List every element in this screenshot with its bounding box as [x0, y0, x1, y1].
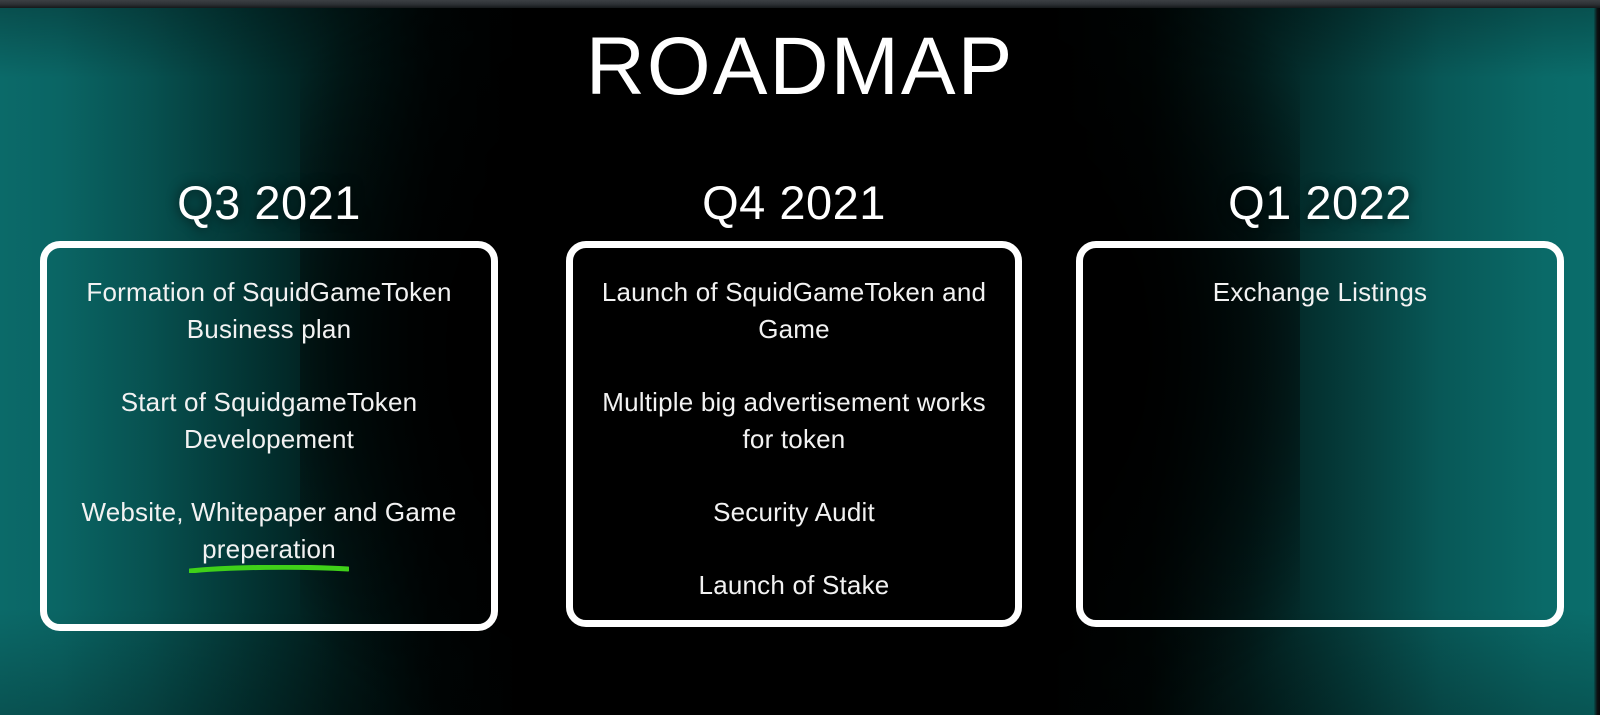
- quarter-title: Q4 2021: [566, 178, 1022, 227]
- milestone-item: Formation of SquidGameToken Business pla…: [69, 274, 469, 348]
- milestone-item: Launch of Stake: [595, 567, 993, 604]
- quarter-card: Launch of SquidGameToken and GameMultipl…: [566, 241, 1022, 627]
- milestone-item: Exchange Listings: [1105, 274, 1535, 311]
- quarter-card: Formation of SquidGameToken Business pla…: [40, 241, 498, 631]
- spellcheck-underline-icon: [189, 565, 349, 573]
- milestone-item: Launch of SquidGameToken and Game: [595, 274, 993, 348]
- roadmap-slide: ROADMAP Q3 2021Formation of SquidGameTok…: [0, 0, 1600, 715]
- milestone-item: Multiple big advertisement works for tok…: [595, 384, 993, 458]
- roadmap-column-1: Q4 2021Launch of SquidGameToken and Game…: [566, 178, 1022, 627]
- roadmap-columns: Q3 2021Formation of SquidGameToken Busin…: [0, 0, 1600, 715]
- milestone-item: Start of SquidgameToken Developement: [69, 384, 469, 458]
- quarter-card: Exchange Listings: [1076, 241, 1564, 627]
- milestone-item: Security Audit: [595, 494, 993, 531]
- milestone-item: Website, Whitepaper and Game preperation: [69, 494, 469, 568]
- quarter-title: Q1 2022: [1076, 178, 1564, 227]
- quarter-title: Q3 2021: [40, 178, 498, 227]
- roadmap-column-2: Q1 2022Exchange Listings: [1076, 178, 1564, 627]
- roadmap-column-0: Q3 2021Formation of SquidGameToken Busin…: [40, 178, 498, 631]
